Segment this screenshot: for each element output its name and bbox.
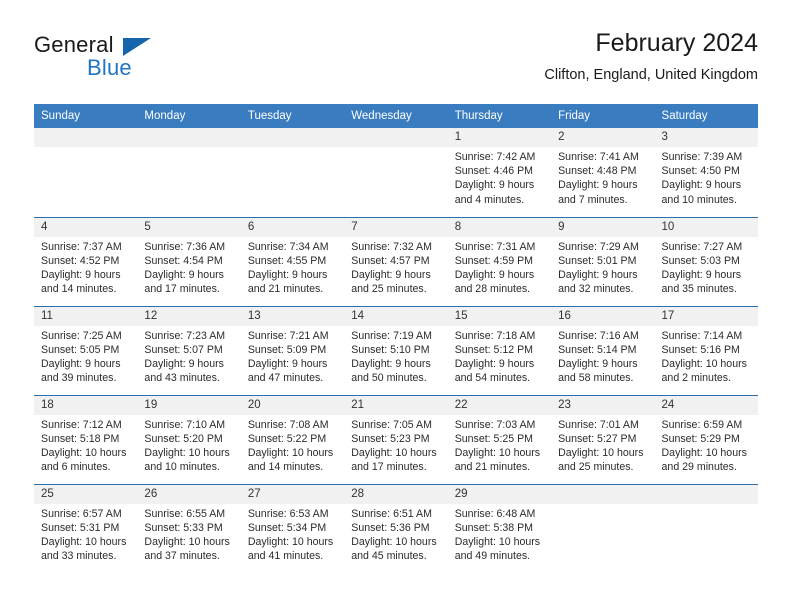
- sunrise-time: Sunrise: 7:14 AM: [662, 329, 752, 343]
- day-number: 11: [34, 307, 137, 326]
- daylight-duration-line1: Daylight: 9 hours: [558, 357, 648, 371]
- day-number: [241, 128, 344, 147]
- daylight-duration-line2: and 54 minutes.: [455, 371, 545, 385]
- calendar-day-cell[interactable]: 15Sunrise: 7:18 AMSunset: 5:12 PMDayligh…: [448, 306, 551, 395]
- daylight-duration-line1: Daylight: 9 hours: [455, 357, 545, 371]
- calendar-day-cell[interactable]: 27Sunrise: 6:53 AMSunset: 5:34 PMDayligh…: [241, 484, 344, 573]
- sunrise-sunset-calendar: Sunday Monday Tuesday Wednesday Thursday…: [34, 104, 758, 573]
- daylight-duration-line1: Daylight: 10 hours: [662, 357, 752, 371]
- daylight-duration-line2: and 14 minutes.: [41, 282, 131, 296]
- calendar-day-cell-empty: [241, 128, 344, 217]
- day-number: 2: [551, 128, 654, 147]
- day-number: 1: [448, 128, 551, 147]
- daylight-duration-line2: and 37 minutes.: [144, 549, 234, 563]
- day-number: 6: [241, 218, 344, 237]
- logo-triangle-icon: [123, 38, 151, 56]
- calendar-day-cell[interactable]: 24Sunrise: 6:59 AMSunset: 5:29 PMDayligh…: [655, 395, 758, 484]
- day-sun-info: Sunrise: 7:03 AMSunset: 5:25 PMDaylight:…: [448, 415, 551, 475]
- sunset-time: Sunset: 5:01 PM: [558, 254, 648, 268]
- weekday-header-saturday: Saturday: [655, 104, 758, 128]
- day-sun-info: Sunrise: 7:36 AMSunset: 4:54 PMDaylight:…: [137, 237, 240, 297]
- sunrise-time: Sunrise: 7:01 AM: [558, 418, 648, 432]
- calendar-day-cell[interactable]: 18Sunrise: 7:12 AMSunset: 5:18 PMDayligh…: [34, 395, 137, 484]
- sunrise-time: Sunrise: 7:31 AM: [455, 240, 545, 254]
- daylight-duration-line2: and 17 minutes.: [144, 282, 234, 296]
- daylight-duration-line1: Daylight: 10 hours: [558, 446, 648, 460]
- sunset-time: Sunset: 5:34 PM: [248, 521, 338, 535]
- day-number: 8: [448, 218, 551, 237]
- daylight-duration-line2: and 2 minutes.: [662, 371, 752, 385]
- day-sun-info: Sunrise: 7:41 AMSunset: 4:48 PMDaylight:…: [551, 147, 654, 207]
- day-sun-info: Sunrise: 7:14 AMSunset: 5:16 PMDaylight:…: [655, 326, 758, 386]
- calendar-day-cell[interactable]: 28Sunrise: 6:51 AMSunset: 5:36 PMDayligh…: [344, 484, 447, 573]
- daylight-duration-line2: and 49 minutes.: [455, 549, 545, 563]
- sunset-time: Sunset: 5:27 PM: [558, 432, 648, 446]
- sunset-time: Sunset: 5:12 PM: [455, 343, 545, 357]
- daylight-duration-line2: and 17 minutes.: [351, 460, 441, 474]
- sunrise-time: Sunrise: 7:12 AM: [41, 418, 131, 432]
- day-sun-info: Sunrise: 7:27 AMSunset: 5:03 PMDaylight:…: [655, 237, 758, 297]
- daylight-duration-line2: and 25 minutes.: [351, 282, 441, 296]
- day-number: 15: [448, 307, 551, 326]
- day-number: 14: [344, 307, 447, 326]
- sunrise-time: Sunrise: 7:21 AM: [248, 329, 338, 343]
- daylight-duration-line2: and 47 minutes.: [248, 371, 338, 385]
- sunrise-time: Sunrise: 7:19 AM: [351, 329, 441, 343]
- sunset-time: Sunset: 5:36 PM: [351, 521, 441, 535]
- day-sun-info: Sunrise: 7:08 AMSunset: 5:22 PMDaylight:…: [241, 415, 344, 475]
- sunset-time: Sunset: 4:57 PM: [351, 254, 441, 268]
- calendar-day-cell[interactable]: 14Sunrise: 7:19 AMSunset: 5:10 PMDayligh…: [344, 306, 447, 395]
- day-number: 4: [34, 218, 137, 237]
- daylight-duration-line1: Daylight: 9 hours: [558, 178, 648, 192]
- sunrise-time: Sunrise: 7:10 AM: [144, 418, 234, 432]
- weekday-header-thursday: Thursday: [448, 104, 551, 128]
- sunset-time: Sunset: 4:54 PM: [144, 254, 234, 268]
- day-sun-info: Sunrise: 7:16 AMSunset: 5:14 PMDaylight:…: [551, 326, 654, 386]
- daylight-duration-line2: and 43 minutes.: [144, 371, 234, 385]
- day-sun-info: Sunrise: 6:51 AMSunset: 5:36 PMDaylight:…: [344, 504, 447, 564]
- daylight-duration-line1: Daylight: 10 hours: [144, 535, 234, 549]
- daylight-duration-line2: and 25 minutes.: [558, 460, 648, 474]
- page-title: February 2024: [544, 28, 758, 58]
- daylight-duration-line1: Daylight: 9 hours: [351, 357, 441, 371]
- daylight-duration-line2: and 14 minutes.: [248, 460, 338, 474]
- daylight-duration-line2: and 45 minutes.: [351, 549, 441, 563]
- day-number: 9: [551, 218, 654, 237]
- day-sun-info: Sunrise: 7:18 AMSunset: 5:12 PMDaylight:…: [448, 326, 551, 386]
- sunset-time: Sunset: 5:07 PM: [144, 343, 234, 357]
- page-header: General Blue February 2024 Clifton, Engl…: [34, 28, 758, 92]
- calendar-day-cell-empty: [137, 128, 240, 217]
- sunset-time: Sunset: 5:25 PM: [455, 432, 545, 446]
- sunrise-time: Sunrise: 7:37 AM: [41, 240, 131, 254]
- day-number: 21: [344, 396, 447, 415]
- daylight-duration-line1: Daylight: 9 hours: [351, 268, 441, 282]
- general-blue-logo[interactable]: General Blue: [34, 32, 234, 86]
- day-sun-info: Sunrise: 7:31 AMSunset: 4:59 PMDaylight:…: [448, 237, 551, 297]
- calendar-week-row: 11Sunrise: 7:25 AMSunset: 5:05 PMDayligh…: [34, 306, 758, 395]
- sunrise-time: Sunrise: 7:05 AM: [351, 418, 441, 432]
- day-sun-info: Sunrise: 7:34 AMSunset: 4:55 PMDaylight:…: [241, 237, 344, 297]
- daylight-duration-line2: and 6 minutes.: [41, 460, 131, 474]
- daylight-duration-line2: and 35 minutes.: [662, 282, 752, 296]
- day-number: 5: [137, 218, 240, 237]
- title-block: February 2024 Clifton, England, United K…: [544, 28, 758, 84]
- calendar-day-cell-empty: [34, 128, 137, 217]
- calendar-day-cell-empty: [551, 484, 654, 573]
- calendar-day-cell[interactable]: 10Sunrise: 7:27 AMSunset: 5:03 PMDayligh…: [655, 217, 758, 306]
- sunset-time: Sunset: 5:29 PM: [662, 432, 752, 446]
- calendar-day-cell[interactable]: 22Sunrise: 7:03 AMSunset: 5:25 PMDayligh…: [448, 395, 551, 484]
- day-number: 28: [344, 485, 447, 504]
- sunrise-time: Sunrise: 6:55 AM: [144, 507, 234, 521]
- daylight-duration-line2: and 41 minutes.: [248, 549, 338, 563]
- sunrise-time: Sunrise: 7:42 AM: [455, 150, 545, 164]
- sunset-time: Sunset: 5:16 PM: [662, 343, 752, 357]
- calendar-day-cell[interactable]: 12Sunrise: 7:23 AMSunset: 5:07 PMDayligh…: [137, 306, 240, 395]
- sunrise-time: Sunrise: 7:27 AM: [662, 240, 752, 254]
- daylight-duration-line2: and 7 minutes.: [558, 193, 648, 207]
- day-sun-info: Sunrise: 7:39 AMSunset: 4:50 PMDaylight:…: [655, 147, 758, 207]
- sunrise-time: Sunrise: 6:57 AM: [41, 507, 131, 521]
- daylight-duration-line1: Daylight: 10 hours: [455, 535, 545, 549]
- day-sun-info: Sunrise: 7:05 AMSunset: 5:23 PMDaylight:…: [344, 415, 447, 475]
- day-number: [551, 485, 654, 504]
- daylight-duration-line1: Daylight: 9 hours: [558, 268, 648, 282]
- sunrise-time: Sunrise: 7:32 AM: [351, 240, 441, 254]
- calendar-day-cell[interactable]: 3Sunrise: 7:39 AMSunset: 4:50 PMDaylight…: [655, 128, 758, 217]
- calendar-day-cell[interactable]: 11Sunrise: 7:25 AMSunset: 5:05 PMDayligh…: [34, 306, 137, 395]
- calendar-day-cell[interactable]: 25Sunrise: 6:57 AMSunset: 5:31 PMDayligh…: [34, 484, 137, 573]
- daylight-duration-line1: Daylight: 9 hours: [144, 357, 234, 371]
- daylight-duration-line2: and 10 minutes.: [662, 193, 752, 207]
- daylight-duration-line1: Daylight: 9 hours: [455, 178, 545, 192]
- day-sun-info: Sunrise: 7:23 AMSunset: 5:07 PMDaylight:…: [137, 326, 240, 386]
- daylight-duration-line1: Daylight: 9 hours: [455, 268, 545, 282]
- calendar-day-cell[interactable]: 6Sunrise: 7:34 AMSunset: 4:55 PMDaylight…: [241, 217, 344, 306]
- day-sun-info: Sunrise: 6:48 AMSunset: 5:38 PMDaylight:…: [448, 504, 551, 564]
- daylight-duration-line1: Daylight: 9 hours: [662, 178, 752, 192]
- day-number: [655, 485, 758, 504]
- sunrise-time: Sunrise: 6:59 AM: [662, 418, 752, 432]
- sunrise-time: Sunrise: 7:36 AM: [144, 240, 234, 254]
- sunset-time: Sunset: 5:31 PM: [41, 521, 131, 535]
- weekday-header-tuesday: Tuesday: [241, 104, 344, 128]
- day-sun-info: Sunrise: 7:10 AMSunset: 5:20 PMDaylight:…: [137, 415, 240, 475]
- day-sun-info: Sunrise: 7:21 AMSunset: 5:09 PMDaylight:…: [241, 326, 344, 386]
- calendar-week-row: 1Sunrise: 7:42 AMSunset: 4:46 PMDaylight…: [34, 128, 758, 217]
- sunset-time: Sunset: 5:09 PM: [248, 343, 338, 357]
- daylight-duration-line1: Daylight: 10 hours: [248, 535, 338, 549]
- calendar-day-cell[interactable]: 1Sunrise: 7:42 AMSunset: 4:46 PMDaylight…: [448, 128, 551, 217]
- weekday-header-row: Sunday Monday Tuesday Wednesday Thursday…: [34, 104, 758, 128]
- daylight-duration-line1: Daylight: 10 hours: [248, 446, 338, 460]
- sunset-time: Sunset: 4:48 PM: [558, 164, 648, 178]
- daylight-duration-line1: Daylight: 9 hours: [41, 357, 131, 371]
- calendar-day-cell[interactable]: 29Sunrise: 6:48 AMSunset: 5:38 PMDayligh…: [448, 484, 551, 573]
- day-number: 17: [655, 307, 758, 326]
- day-sun-info: Sunrise: 6:57 AMSunset: 5:31 PMDaylight:…: [34, 504, 137, 564]
- day-number: 18: [34, 396, 137, 415]
- sunrise-time: Sunrise: 7:39 AM: [662, 150, 752, 164]
- day-number: [137, 128, 240, 147]
- daylight-duration-line1: Daylight: 9 hours: [41, 268, 131, 282]
- sunset-time: Sunset: 4:50 PM: [662, 164, 752, 178]
- day-number: 29: [448, 485, 551, 504]
- daylight-duration-line2: and 50 minutes.: [351, 371, 441, 385]
- sunrise-time: Sunrise: 7:08 AM: [248, 418, 338, 432]
- day-number: 7: [344, 218, 447, 237]
- sunset-time: Sunset: 4:59 PM: [455, 254, 545, 268]
- sunset-time: Sunset: 5:23 PM: [351, 432, 441, 446]
- daylight-duration-line1: Daylight: 10 hours: [41, 535, 131, 549]
- day-number: 16: [551, 307, 654, 326]
- day-number: 22: [448, 396, 551, 415]
- sunrise-time: Sunrise: 7:41 AM: [558, 150, 648, 164]
- calendar-day-cell[interactable]: 7Sunrise: 7:32 AMSunset: 4:57 PMDaylight…: [344, 217, 447, 306]
- day-number: 12: [137, 307, 240, 326]
- day-sun-info: Sunrise: 7:01 AMSunset: 5:27 PMDaylight:…: [551, 415, 654, 475]
- day-number: 3: [655, 128, 758, 147]
- day-number: 23: [551, 396, 654, 415]
- calendar-day-cell-empty: [344, 128, 447, 217]
- weekday-header-monday: Monday: [137, 104, 240, 128]
- daylight-duration-line1: Daylight: 9 hours: [144, 268, 234, 282]
- day-number: [34, 128, 137, 147]
- sunrise-time: Sunrise: 6:53 AM: [248, 507, 338, 521]
- calendar-day-cell[interactable]: 16Sunrise: 7:16 AMSunset: 5:14 PMDayligh…: [551, 306, 654, 395]
- calendar-day-cell[interactable]: 4Sunrise: 7:37 AMSunset: 4:52 PMDaylight…: [34, 217, 137, 306]
- day-sun-info: Sunrise: 7:42 AMSunset: 4:46 PMDaylight:…: [448, 147, 551, 207]
- sunrise-time: Sunrise: 7:34 AM: [248, 240, 338, 254]
- sunset-time: Sunset: 5:18 PM: [41, 432, 131, 446]
- daylight-duration-line2: and 58 minutes.: [558, 371, 648, 385]
- day-sun-info: Sunrise: 7:37 AMSunset: 4:52 PMDaylight:…: [34, 237, 137, 297]
- daylight-duration-line2: and 32 minutes.: [558, 282, 648, 296]
- day-number: 25: [34, 485, 137, 504]
- day-sun-info: Sunrise: 6:59 AMSunset: 5:29 PMDaylight:…: [655, 415, 758, 475]
- sunrise-time: Sunrise: 7:03 AM: [455, 418, 545, 432]
- sunrise-time: Sunrise: 6:51 AM: [351, 507, 441, 521]
- sunrise-time: Sunrise: 7:23 AM: [144, 329, 234, 343]
- calendar-day-cell[interactable]: 21Sunrise: 7:05 AMSunset: 5:23 PMDayligh…: [344, 395, 447, 484]
- calendar-week-row: 25Sunrise: 6:57 AMSunset: 5:31 PMDayligh…: [34, 484, 758, 573]
- day-number: 19: [137, 396, 240, 415]
- calendar-body: 1Sunrise: 7:42 AMSunset: 4:46 PMDaylight…: [34, 128, 758, 573]
- sunset-time: Sunset: 5:14 PM: [558, 343, 648, 357]
- day-number: 24: [655, 396, 758, 415]
- calendar-week-row: 18Sunrise: 7:12 AMSunset: 5:18 PMDayligh…: [34, 395, 758, 484]
- weekday-header-wednesday: Wednesday: [344, 104, 447, 128]
- daylight-duration-line1: Daylight: 9 hours: [248, 357, 338, 371]
- calendar-day-cell[interactable]: 23Sunrise: 7:01 AMSunset: 5:27 PMDayligh…: [551, 395, 654, 484]
- calendar-week-row: 4Sunrise: 7:37 AMSunset: 4:52 PMDaylight…: [34, 217, 758, 306]
- calendar-page: General Blue February 2024 Clifton, Engl…: [0, 0, 792, 612]
- daylight-duration-line1: Daylight: 10 hours: [41, 446, 131, 460]
- sunrise-time: Sunrise: 7:25 AM: [41, 329, 131, 343]
- calendar-day-cell[interactable]: 20Sunrise: 7:08 AMSunset: 5:22 PMDayligh…: [241, 395, 344, 484]
- calendar-day-cell-empty: [655, 484, 758, 573]
- sunrise-time: Sunrise: 7:18 AM: [455, 329, 545, 343]
- sunrise-time: Sunrise: 6:48 AM: [455, 507, 545, 521]
- day-number: 26: [137, 485, 240, 504]
- sunrise-time: Sunrise: 7:29 AM: [558, 240, 648, 254]
- day-sun-info: Sunrise: 6:53 AMSunset: 5:34 PMDaylight:…: [241, 504, 344, 564]
- calendar-day-cell[interactable]: 9Sunrise: 7:29 AMSunset: 5:01 PMDaylight…: [551, 217, 654, 306]
- daylight-duration-line2: and 33 minutes.: [41, 549, 131, 563]
- sunset-time: Sunset: 4:55 PM: [248, 254, 338, 268]
- calendar-day-cell[interactable]: 8Sunrise: 7:31 AMSunset: 4:59 PMDaylight…: [448, 217, 551, 306]
- day-number: 20: [241, 396, 344, 415]
- sunset-time: Sunset: 5:05 PM: [41, 343, 131, 357]
- calendar-day-cell[interactable]: 13Sunrise: 7:21 AMSunset: 5:09 PMDayligh…: [241, 306, 344, 395]
- sunset-time: Sunset: 5:20 PM: [144, 432, 234, 446]
- logo-text-blue: Blue: [87, 55, 132, 81]
- sunset-time: Sunset: 5:38 PM: [455, 521, 545, 535]
- sunset-time: Sunset: 4:52 PM: [41, 254, 131, 268]
- daylight-duration-line2: and 29 minutes.: [662, 460, 752, 474]
- weekday-header-sunday: Sunday: [34, 104, 137, 128]
- daylight-duration-line2: and 21 minutes.: [455, 460, 545, 474]
- calendar-day-cell[interactable]: 17Sunrise: 7:14 AMSunset: 5:16 PMDayligh…: [655, 306, 758, 395]
- daylight-duration-line1: Daylight: 10 hours: [144, 446, 234, 460]
- daylight-duration-line1: Daylight: 10 hours: [662, 446, 752, 460]
- daylight-duration-line2: and 10 minutes.: [144, 460, 234, 474]
- calendar-day-cell[interactable]: 26Sunrise: 6:55 AMSunset: 5:33 PMDayligh…: [137, 484, 240, 573]
- daylight-duration-line2: and 28 minutes.: [455, 282, 545, 296]
- sunset-time: Sunset: 5:03 PM: [662, 254, 752, 268]
- weekday-header-friday: Friday: [551, 104, 654, 128]
- sunset-time: Sunset: 5:33 PM: [144, 521, 234, 535]
- sunset-time: Sunset: 5:22 PM: [248, 432, 338, 446]
- daylight-duration-line1: Daylight: 9 hours: [662, 268, 752, 282]
- day-number: 27: [241, 485, 344, 504]
- sunset-time: Sunset: 4:46 PM: [455, 164, 545, 178]
- daylight-duration-line1: Daylight: 10 hours: [351, 446, 441, 460]
- day-sun-info: Sunrise: 7:32 AMSunset: 4:57 PMDaylight:…: [344, 237, 447, 297]
- day-sun-info: Sunrise: 6:55 AMSunset: 5:33 PMDaylight:…: [137, 504, 240, 564]
- day-sun-info: Sunrise: 7:29 AMSunset: 5:01 PMDaylight:…: [551, 237, 654, 297]
- daylight-duration-line2: and 21 minutes.: [248, 282, 338, 296]
- sunrise-time: Sunrise: 7:16 AM: [558, 329, 648, 343]
- daylight-duration-line1: Daylight: 10 hours: [455, 446, 545, 460]
- daylight-duration-line2: and 4 minutes.: [455, 193, 545, 207]
- day-sun-info: Sunrise: 7:25 AMSunset: 5:05 PMDaylight:…: [34, 326, 137, 386]
- daylight-duration-line1: Daylight: 9 hours: [248, 268, 338, 282]
- location-subtitle: Clifton, England, United Kingdom: [544, 67, 758, 84]
- calendar-day-cell[interactable]: 19Sunrise: 7:10 AMSunset: 5:20 PMDayligh…: [137, 395, 240, 484]
- day-number: [344, 128, 447, 147]
- calendar-day-cell[interactable]: 2Sunrise: 7:41 AMSunset: 4:48 PMDaylight…: [551, 128, 654, 217]
- day-sun-info: Sunrise: 7:19 AMSunset: 5:10 PMDaylight:…: [344, 326, 447, 386]
- daylight-duration-line2: and 39 minutes.: [41, 371, 131, 385]
- day-number: 13: [241, 307, 344, 326]
- calendar-day-cell[interactable]: 5Sunrise: 7:36 AMSunset: 4:54 PMDaylight…: [137, 217, 240, 306]
- sunset-time: Sunset: 5:10 PM: [351, 343, 441, 357]
- daylight-duration-line1: Daylight: 10 hours: [351, 535, 441, 549]
- day-sun-info: Sunrise: 7:12 AMSunset: 5:18 PMDaylight:…: [34, 415, 137, 475]
- day-number: 10: [655, 218, 758, 237]
